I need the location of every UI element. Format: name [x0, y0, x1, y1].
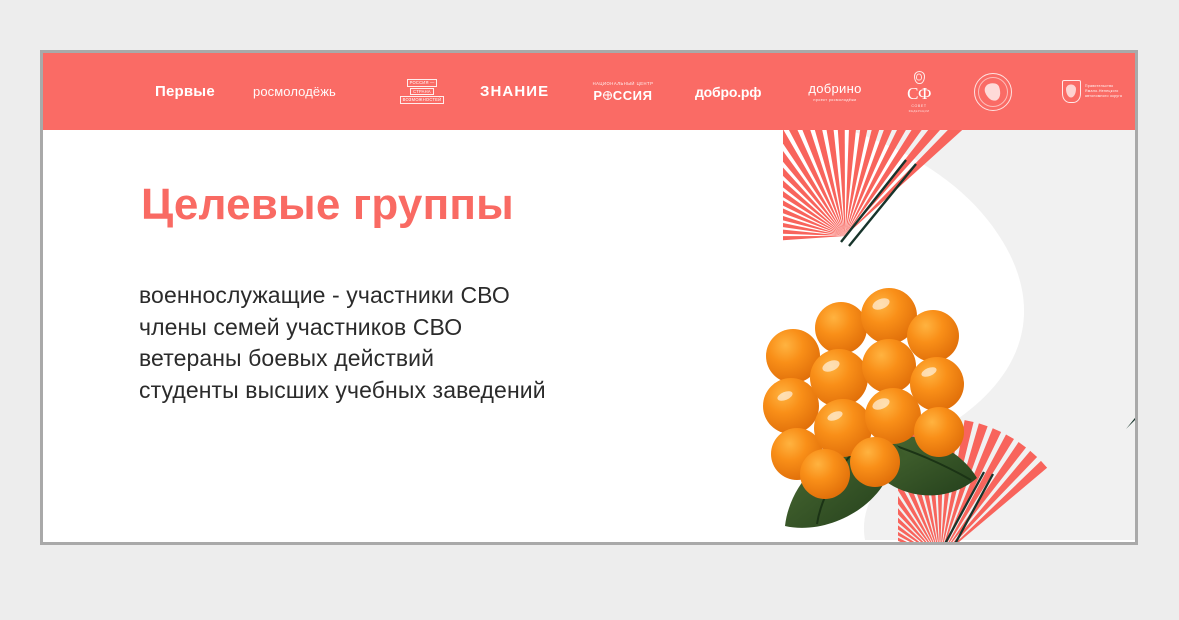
list-item: военнослужащие - участники СВО [139, 280, 546, 312]
logo-rsv-line3: ВОЗМОЖНОСТЕЙ [400, 96, 445, 104]
logo-government-content: Правительство Ямало-Ненецкого автономног… [1062, 80, 1122, 103]
logo-sf-subtitle2: ФЕДЕРАЦИИ [909, 109, 930, 113]
logo-znanie-label: ЗНАНИЕ [480, 83, 549, 100]
logo-government[interactable]: Правительство Ямало-Ненецкого автономног… [1053, 80, 1131, 103]
logo-pervye-label: Первые [155, 83, 215, 100]
seal-icon [974, 73, 1012, 111]
logo-dobro-rf-label: добро.рф [695, 84, 761, 100]
fan-lower-icon [898, 416, 1135, 542]
presentation-slide: Первые росмолодёжь РОССИЯ — СТРАНА ВОЗМО… [40, 50, 1138, 545]
logo-government-line1: Правительство [1085, 85, 1122, 89]
logo-government-lines: Правительство Ямало-Ненецкого автономног… [1085, 85, 1122, 99]
coat-of-arms-icon [1062, 80, 1081, 103]
logo-government-line2: Ямало-Ненецкого [1085, 90, 1122, 94]
logo-russia-main-right: ССИЯ [613, 88, 653, 103]
logo-sf-subtitle: СОВЕТ [911, 104, 926, 108]
logo-nacionalnyy-centr-rossiya[interactable]: НАЦИОНАЛЬНЫЙ ЦЕНТР Р ССИЯ [583, 81, 663, 103]
logo-rosmolodezh-label: росмолодёжь [253, 84, 336, 99]
fan-upper-sticks [841, 160, 916, 246]
logo-rosmolodezh[interactable]: росмолодёжь [253, 84, 336, 99]
logo-government-line3: автономного округа [1085, 95, 1122, 99]
fan-stick-icon [1118, 383, 1135, 443]
logo-rsv-line2: СТРАНА [410, 88, 434, 96]
logo-znanie[interactable]: ЗНАНИЕ [480, 83, 549, 100]
logo-pervye[interactable]: Первые [155, 83, 215, 100]
logo-russia-main: Р ССИЯ [593, 88, 652, 103]
partner-logo-bar: Первые росмолодёжь РОССИЯ — СТРАНА ВОЗМО… [43, 53, 1135, 130]
list-item: студенты высших учебных заведений [139, 375, 546, 407]
list-item: ветераны боевых действий [139, 343, 546, 375]
swoosh-background-shape [745, 130, 1135, 542]
logo-sf-label: СФ [907, 85, 931, 102]
target-groups-list: военнослужащие - участники СВО члены сем… [139, 280, 546, 406]
cloudberry-image [733, 250, 1013, 540]
logo-russia-main-left: Р [593, 88, 602, 103]
cloudberry-drupelets [763, 288, 964, 499]
logo-dobrino[interactable]: добрино проект росмолодёжи [800, 81, 870, 103]
screenshot-stage: Первые росмолодёжь РОССИЯ — СТРАНА ВОЗМО… [0, 0, 1179, 620]
crest-icon [914, 71, 925, 84]
list-item: члены семей участников СВО [139, 312, 546, 344]
cloudberry-leaves [785, 426, 977, 528]
slide-body: Целевые группы военнослужащие - участник… [43, 130, 1135, 542]
logo-dobro-rf[interactable]: добро.рф [695, 84, 761, 100]
fan-upper-icon [783, 130, 1113, 368]
logo-rsv-line1: РОССИЯ — [407, 79, 438, 87]
globe-icon [603, 91, 612, 100]
logo-dobrino-subtitle: проект росмолодёжи [813, 98, 856, 102]
logo-dobrino-label: добрино [808, 81, 861, 96]
logo-russia-top: НАЦИОНАЛЬНЫЙ ЦЕНТР [593, 81, 654, 86]
logo-rossiya-strana-vozmozhnostey[interactable]: РОССИЯ — СТРАНА ВОЗМОЖНОСТЕЙ [386, 79, 458, 104]
logo-round-seal[interactable] [973, 73, 1013, 111]
logo-sovet-federacii[interactable]: СФ СОВЕТ ФЕДЕРАЦИИ [898, 71, 940, 113]
page-title: Целевые группы [141, 180, 514, 230]
fan-lower-sticks [934, 472, 993, 542]
